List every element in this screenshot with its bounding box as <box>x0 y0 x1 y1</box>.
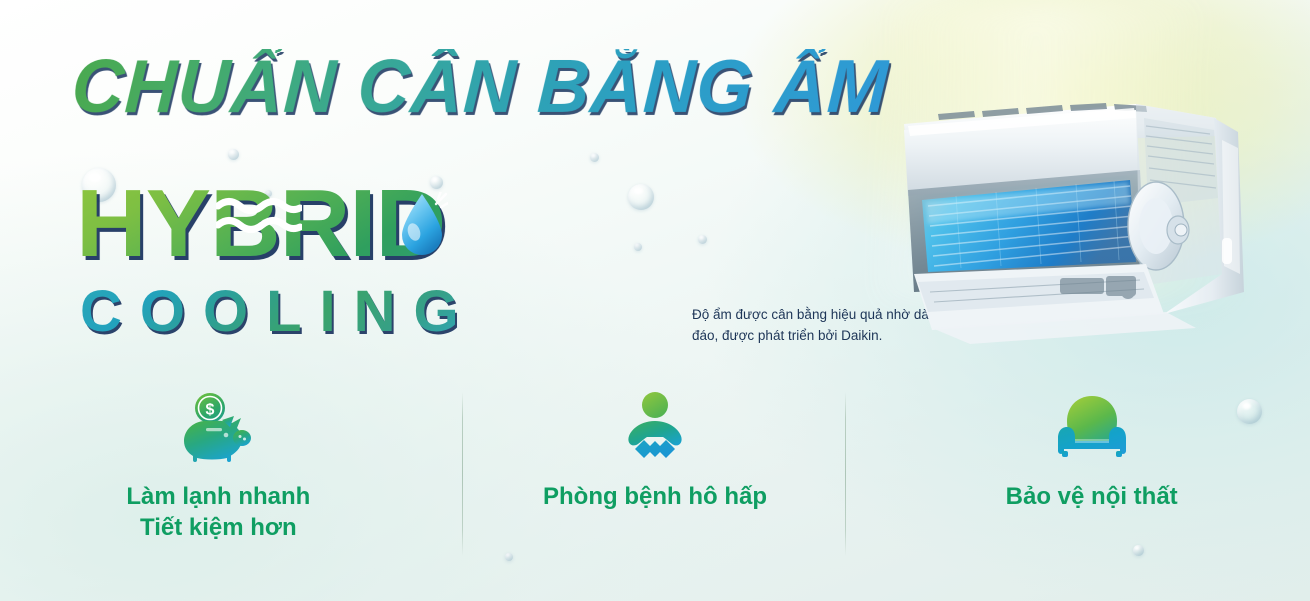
banner-headline: CHUẨN CÂN BẰNG ẨM <box>70 49 890 124</box>
hybrid-logo: HYBRID <box>76 176 506 286</box>
water-bubble-icon <box>698 235 707 244</box>
baby-icon <box>620 385 690 463</box>
svg-text:$: $ <box>206 402 215 419</box>
feature-item-respiratory[interactable]: Phòng bệnh hô hấp <box>437 380 874 512</box>
feature-item-savings[interactable]: $ Làm lạnh nhanh Tiết kiệm hơn <box>0 380 437 543</box>
water-bubble-icon <box>228 149 239 160</box>
feature-item-interior[interactable]: Bảo vệ nội thất <box>873 380 1310 512</box>
air-conditioner-image <box>878 78 1278 348</box>
water-bubble-icon <box>590 153 599 162</box>
feature-label: Làm lạnh nhanh Tiết kiệm hơn <box>126 481 310 543</box>
cooling-wordmark: COOLING <box>80 283 477 341</box>
water-bubble-icon <box>628 184 654 210</box>
water-bubble-icon <box>634 243 642 251</box>
feature-label: Bảo vệ nội thất <box>1006 481 1178 512</box>
feature-label: Phòng bệnh hô hấp <box>543 481 767 512</box>
feature-list: $ Làm lạnh nhanh Tiết kiệm hơn <box>0 380 1310 565</box>
armchair-icon <box>1056 385 1128 463</box>
hybrid-wordmark: HYBRID <box>76 176 515 272</box>
promo-banner: CHUẨN CÂN BẰNG ẨM HYBRID COOLING <box>0 0 1310 601</box>
piggy-bank-icon: $ <box>180 385 256 463</box>
